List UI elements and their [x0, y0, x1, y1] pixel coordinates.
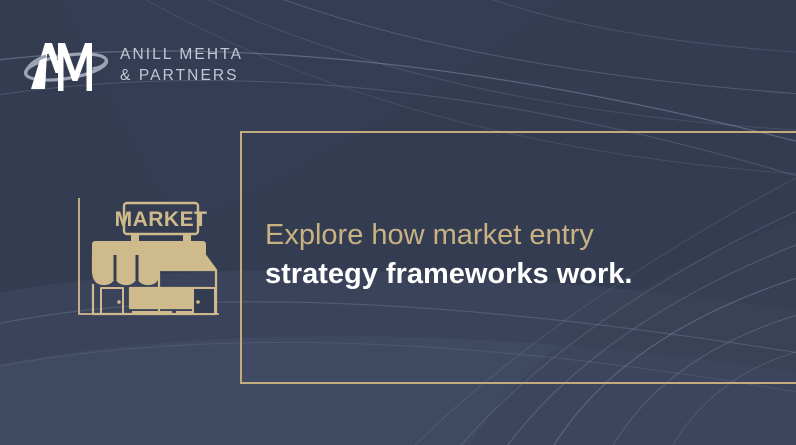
- market-sign-label: MARKET: [115, 208, 208, 231]
- am-monogram-icon: [18, 29, 114, 101]
- market-storefront-icon: MARKET: [74, 192, 224, 320]
- headline-line-2: strategy frameworks work.: [265, 255, 725, 294]
- brand-name: ANILL MEHTA & PARTNERS: [120, 44, 243, 86]
- headline: Explore how market entry strategy framew…: [265, 216, 725, 294]
- brand-name-line-2: & PARTNERS: [120, 65, 243, 86]
- presentation-slide: ANILL MEHTA & PARTNERS: [0, 0, 796, 445]
- brand-name-line-1: ANILL MEHTA: [120, 44, 243, 65]
- headline-line-1: Explore how market entry: [265, 216, 725, 255]
- brand-logo: ANILL MEHTA & PARTNERS: [18, 28, 243, 102]
